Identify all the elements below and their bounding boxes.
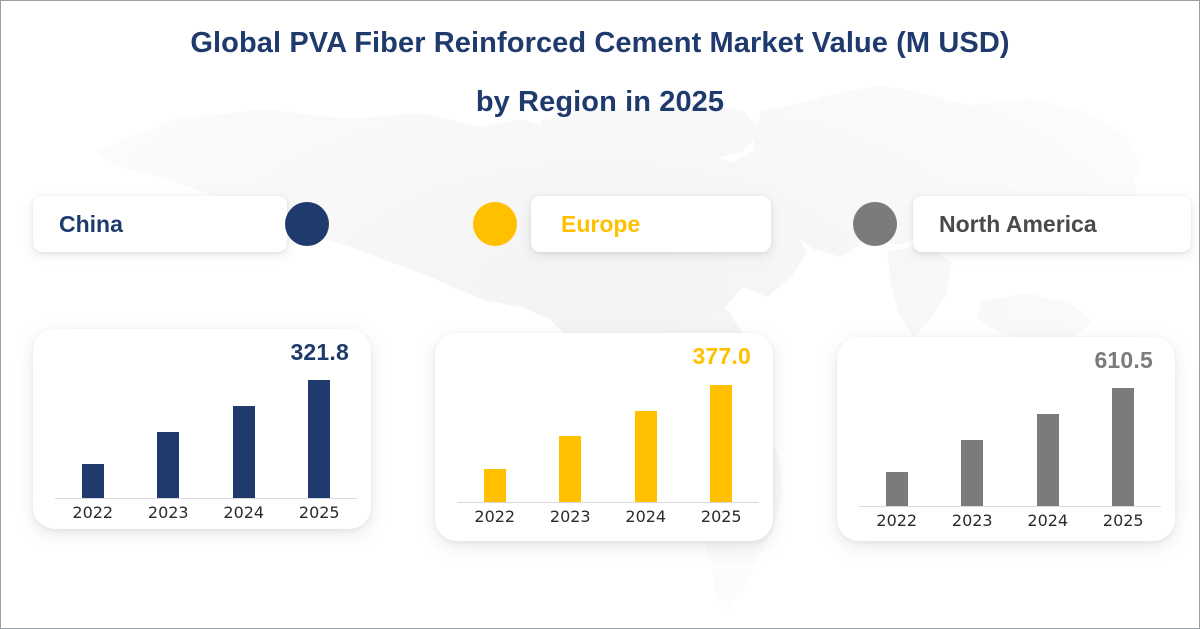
bar-europe-2025[interactable]: [710, 385, 732, 502]
bar-group-china: [55, 372, 357, 498]
bar-china-2024[interactable]: [233, 406, 255, 498]
tick-slot: 2023: [131, 503, 207, 523]
tick-slot: 2022: [55, 503, 131, 523]
bar-slot: [282, 372, 358, 498]
value-label-china: 321.8: [290, 339, 349, 366]
tick-slot: 2024: [1010, 511, 1086, 531]
bar-slot: [684, 376, 760, 502]
tick-label-europe-1: 2023: [550, 507, 591, 526]
tick-label-europe-3: 2025: [701, 507, 742, 526]
chart-panel-north-america: 610.5 2022 2023 2024 2025: [837, 337, 1175, 541]
infographic-canvas: Global PVA Fiber Reinforced Cement Marke…: [0, 0, 1200, 629]
tick-slot: 2025: [1086, 511, 1162, 531]
bar-slot: [935, 380, 1011, 506]
value-label-europe: 377.0: [692, 343, 751, 370]
bar-slot: [1010, 380, 1086, 506]
tick-label-north-america-1: 2023: [952, 511, 993, 530]
chart-title-block: Global PVA Fiber Reinforced Cement Marke…: [1, 29, 1199, 117]
bar-group-north-america: [859, 380, 1161, 506]
legend-item-north-america[interactable]: North America: [913, 196, 1191, 252]
bar-europe-2023[interactable]: [559, 436, 581, 502]
tick-label-north-america-0: 2022: [876, 511, 917, 530]
bar-china-2023[interactable]: [157, 432, 179, 498]
bar-china-2022[interactable]: [82, 464, 104, 498]
tick-label-europe-2: 2024: [625, 507, 666, 526]
page-title-line-1: Global PVA Fiber Reinforced Cement Marke…: [1, 29, 1199, 58]
legend-label-china: China: [59, 211, 123, 238]
bar-group-europe: [457, 376, 759, 502]
bar-north-america-2025[interactable]: [1112, 388, 1134, 506]
x-axis-line-china: [55, 498, 357, 499]
bar-north-america-2022[interactable]: [886, 472, 908, 506]
plot-area-north-america: [859, 379, 1161, 507]
plot-area-china: [55, 371, 357, 499]
tick-slot: 2023: [533, 507, 609, 527]
legend-dot-europe-icon: [473, 202, 517, 246]
bar-slot: [55, 372, 131, 498]
tick-label-europe-0: 2022: [474, 507, 515, 526]
legend-item-china[interactable]: China: [33, 196, 287, 252]
bar-north-america-2024[interactable]: [1037, 414, 1059, 506]
bar-slot: [131, 372, 207, 498]
x-axis-ticks-europe: 2022 2023 2024 2025: [457, 507, 759, 527]
bar-europe-2024[interactable]: [635, 411, 657, 502]
tick-slot: 2022: [859, 511, 935, 531]
tick-slot: 2025: [282, 503, 358, 523]
tick-label-north-america-3: 2025: [1103, 511, 1144, 530]
legend-label-north-america: North America: [939, 211, 1097, 238]
tick-label-china-2: 2024: [223, 503, 264, 522]
bar-slot: [608, 376, 684, 502]
x-axis-line-europe: [457, 502, 759, 503]
legend-label-europe: Europe: [561, 211, 640, 238]
tick-slot: 2023: [935, 511, 1011, 531]
bar-slot: [206, 372, 282, 498]
tick-label-china-0: 2022: [72, 503, 113, 522]
tick-slot: 2024: [608, 507, 684, 527]
tick-slot: 2022: [457, 507, 533, 527]
x-axis-ticks-north-america: 2022 2023 2024 2025: [859, 511, 1161, 531]
tick-slot: 2025: [684, 507, 760, 527]
plot-area-europe: [457, 375, 759, 503]
chart-panel-europe: 377.0 2022 2023 2024 2025: [435, 333, 773, 541]
legend-dot-china-icon: [285, 202, 329, 246]
bar-slot: [457, 376, 533, 502]
page-title-line-2: by Region in 2025: [1, 88, 1199, 117]
bar-slot: [859, 380, 935, 506]
value-label-north-america: 610.5: [1094, 347, 1153, 374]
x-axis-ticks-china: 2022 2023 2024 2025: [55, 503, 357, 523]
bar-slot: [1086, 380, 1162, 506]
bar-slot: [533, 376, 609, 502]
bar-china-2025[interactable]: [308, 380, 330, 498]
legend-item-europe[interactable]: Europe: [531, 196, 771, 252]
chart-panel-china: 321.8 2022 2023 2024 2025: [33, 329, 371, 529]
tick-label-china-1: 2023: [148, 503, 189, 522]
tick-label-china-3: 2025: [299, 503, 340, 522]
bar-europe-2022[interactable]: [484, 469, 506, 502]
x-axis-line-north-america: [859, 506, 1161, 507]
bar-north-america-2023[interactable]: [961, 440, 983, 506]
tick-slot: 2024: [206, 503, 282, 523]
legend-dot-north-america-icon: [853, 202, 897, 246]
tick-label-north-america-2: 2024: [1027, 511, 1068, 530]
